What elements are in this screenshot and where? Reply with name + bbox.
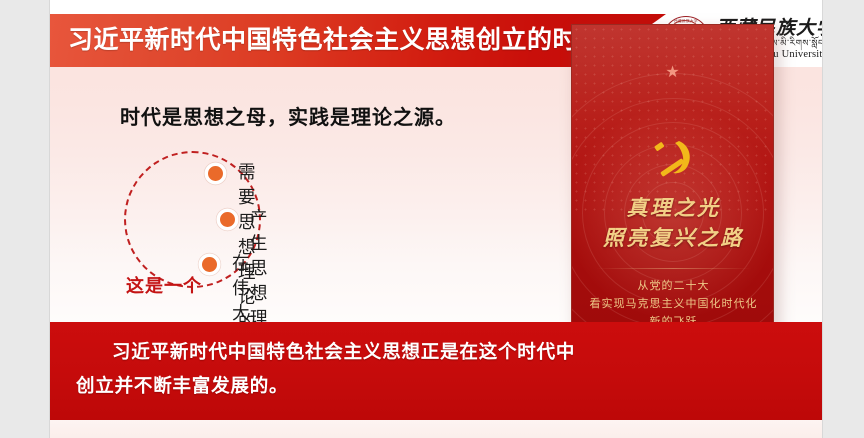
presentation-slide: 习近平新时代中国特色社会主义思想创立的时代背景 西藏民族大学 西藏民族大学 བོ… [50,0,822,438]
footer-statement: 习近平新时代中国特色社会主义思想正是在这个时代中创立并不断丰富发展的。 [76,336,576,404]
hammer-sickle-icon [649,135,697,179]
poster-title-text: 真理之光 照亮复兴之路 [572,193,774,253]
circle-label-text: 这是一个 [126,272,202,298]
page-gutter-right [822,0,823,438]
bullet-dot-icon [220,212,235,227]
slide-footer: 习近平新时代中国特色社会主义思想正是在这个时代中创立并不断丰富发展的。 [50,322,822,420]
lead-statement: 时代是思想之母，实践是理论之源。 [120,101,456,130]
propaganda-poster-image: ★ 真理之光 照亮复兴之路 从党的二十大 看实现马克思主义中国化时代化 新的飞跃 [571,24,774,344]
slide-page: 习近平新时代中国特色社会主义思想创立的时代背景 西藏民族大学 西藏民族大学 བོ… [0,0,864,438]
bullet-dot-icon [202,257,217,272]
slide-bottom-strip [50,420,822,438]
poster-divider [596,268,751,269]
page-title: 习近平新时代中国特色社会主义思想创立的时代背景 [68,14,655,67]
poster-dot-texture [572,25,774,215]
bullet-dot-icon [208,166,223,181]
star-icon: ★ [665,65,679,81]
